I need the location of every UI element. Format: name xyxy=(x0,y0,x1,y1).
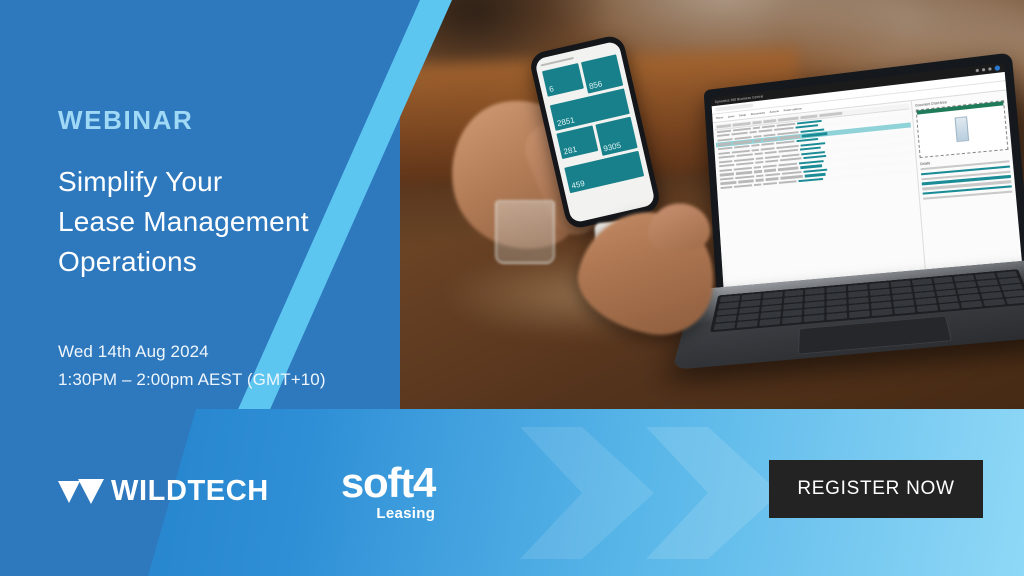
data-grid xyxy=(713,101,926,287)
page-title: Simplify Your Lease Management Operation… xyxy=(58,162,309,281)
help-icon xyxy=(982,68,985,71)
ribbon-item: Actions xyxy=(769,109,779,114)
ribbon-item: Lines xyxy=(728,114,735,119)
dashboard-tile: 459 xyxy=(564,151,644,193)
avatar xyxy=(994,65,1000,71)
soft4-tagline: Leasing xyxy=(341,506,435,521)
webinar-banner: 6 856 2851 281 9305 459 Dynamics 365 Bus… xyxy=(0,0,1024,576)
dashboard-tile: 9305 xyxy=(595,117,638,156)
soft4-leasing-logo: soft4 Leasing xyxy=(341,462,435,521)
dashboard-tile: 856 xyxy=(580,54,623,93)
headline-line: Operations xyxy=(58,242,309,282)
laptop-lid: Dynamics 365 Business Central Home xyxy=(704,52,1024,299)
register-now-button[interactable]: REGISTER NOW xyxy=(769,460,983,518)
wildtech-logo: WILDTECH xyxy=(58,475,269,508)
ribbon-item: Fewer options xyxy=(783,106,801,112)
document-thumbnail xyxy=(954,117,969,143)
hero-photo: 6 856 2851 281 9305 459 Dynamics 365 Bus… xyxy=(400,0,1024,414)
ribbon-item: Documents xyxy=(751,111,766,116)
notifications-icon xyxy=(988,67,991,70)
dashboard-tile: 281 xyxy=(556,126,597,160)
ribbon-item: Home xyxy=(716,115,724,120)
ribbon-item: Setup xyxy=(739,113,747,118)
phone-dashboard-tiles: 6 856 2851 281 9305 459 xyxy=(540,52,647,196)
event-datetime: Wed 14th Aug 2024 1:30PM – 2:00pm AEST (… xyxy=(58,338,326,393)
event-date: Wed 14th Aug 2024 xyxy=(58,338,326,366)
document-preview-card xyxy=(916,100,1009,158)
headline-line: Lease Management xyxy=(58,202,309,242)
side-panel: Document Chart Area Details xyxy=(911,90,1023,278)
soft4-wordmark: soft4 xyxy=(341,462,435,504)
app-body: Document Chart Area Details xyxy=(713,90,1023,287)
event-time: 1:30PM – 2:00pm AEST (GMT+10) xyxy=(58,366,326,394)
wildtech-wordmark: WILDTECH xyxy=(111,475,269,508)
laptop-screen: Dynamics 365 Business Central Home xyxy=(711,63,1023,287)
chevron-arrow-icon xyxy=(646,409,780,576)
settings-icon xyxy=(976,69,979,72)
wildtech-w-mark-icon xyxy=(58,477,104,507)
laptop: Dynamics 365 Business Central Home xyxy=(676,55,1024,414)
webinar-kicker: WEBINAR xyxy=(58,105,193,136)
logo-row: WILDTECH soft4 Leasing xyxy=(58,462,435,521)
chevron-arrow-icon xyxy=(520,409,654,576)
detail-field-list xyxy=(921,160,1013,200)
headline-line: Simplify Your xyxy=(58,162,309,202)
dashboard-tile: 6 xyxy=(542,63,583,97)
drinking-glass xyxy=(495,200,555,264)
